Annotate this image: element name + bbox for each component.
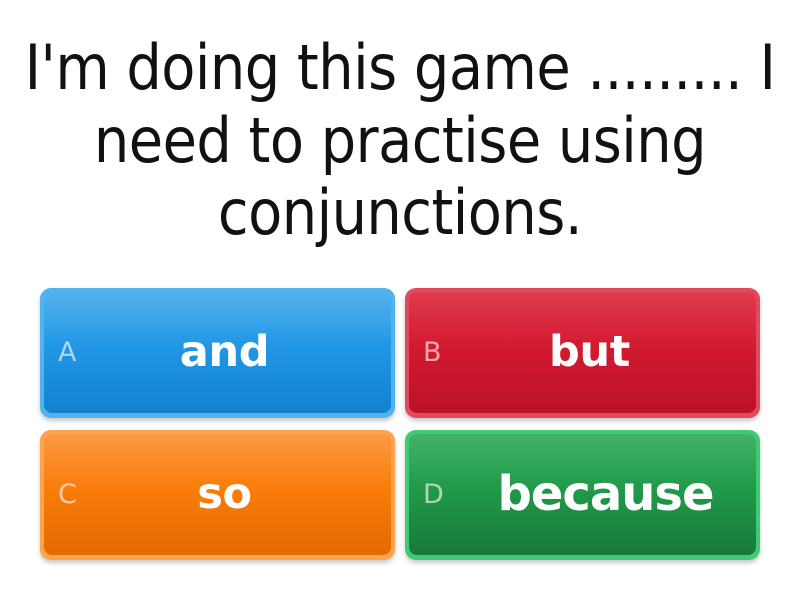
answer-options-grid: A and B but C so D because [0, 278, 800, 600]
answer-label-c: so [104, 472, 381, 517]
answer-option-a[interactable]: A and [40, 288, 395, 418]
answer-option-c[interactable]: C so [40, 430, 395, 560]
answer-label-a: and [104, 330, 381, 375]
answer-label-b: but [469, 330, 746, 375]
answer-letter-b: B [423, 339, 469, 366]
answer-letter-a: A [58, 339, 104, 366]
answer-option-b[interactable]: B but [405, 288, 760, 418]
answer-letter-c: C [58, 481, 104, 508]
answer-option-a-face: A and [44, 292, 391, 413]
answer-label-d: because [469, 469, 746, 519]
quiz-screen: I'm doing this game ......... I need to … [0, 0, 800, 600]
answer-letter-d: D [423, 481, 469, 508]
answer-option-c-face: C so [44, 434, 391, 555]
question-text: I'm doing this game ......... I need to … [18, 32, 782, 250]
question-area: I'm doing this game ......... I need to … [0, 0, 800, 278]
answer-option-d-face: D because [409, 434, 756, 555]
answer-option-d[interactable]: D because [405, 430, 760, 560]
answer-option-b-face: B but [409, 292, 756, 413]
